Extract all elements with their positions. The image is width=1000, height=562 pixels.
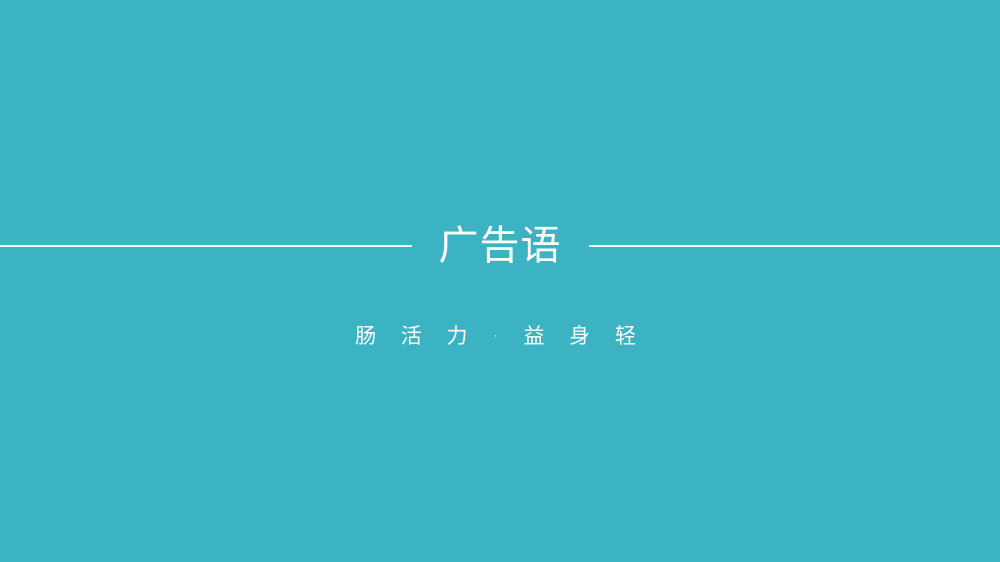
slide-canvas: 广告语 肠 活 力 · 益 身 轻: [0, 0, 1000, 562]
divider-rule-left: [0, 245, 412, 247]
subtitle-row: 肠 活 力 · 益 身 轻: [0, 320, 1000, 352]
slide-subtitle: 肠 活 力 · 益 身 轻: [346, 320, 645, 352]
divider-rule-right: [589, 245, 1000, 247]
title-band: 广告语: [0, 225, 1000, 267]
page-title: 广告语: [439, 225, 562, 267]
